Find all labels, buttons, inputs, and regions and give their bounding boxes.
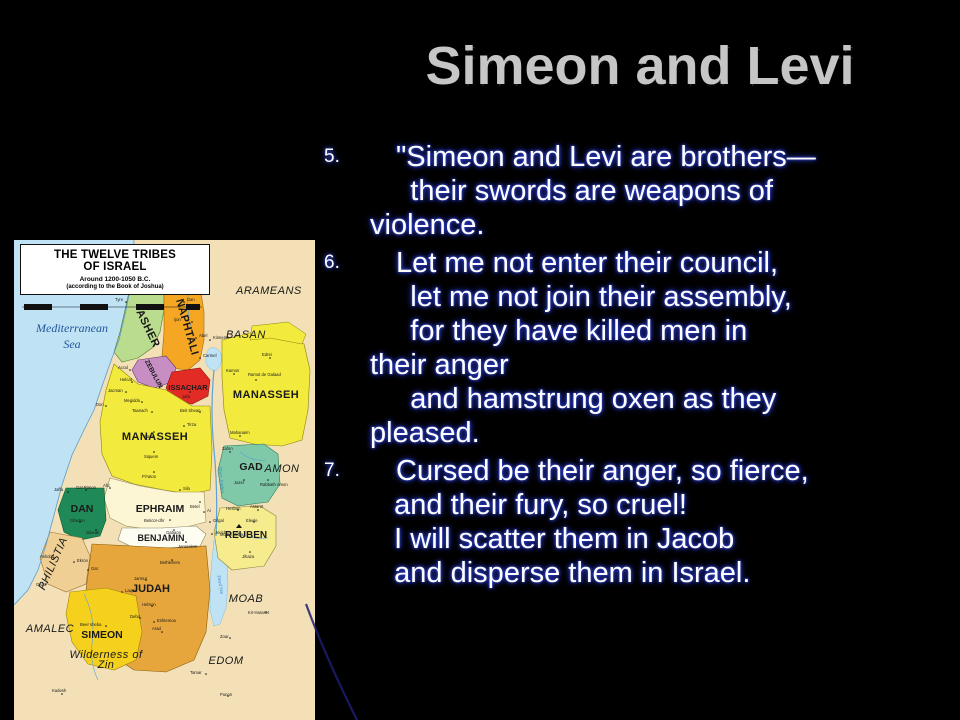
city-gabaon: Gabaon [166,530,182,535]
map-label-edom: EDOM [209,655,244,667]
city-piraton: Pi'raton [142,474,157,479]
city-jazer: Jazer [234,480,245,485]
map-label-issachar: ISSACHAR [168,383,208,392]
map-legend-line1: THE TWELVE TRIBES [24,249,206,261]
city-carmel: Carmel [203,353,217,358]
map-label-basan: BASAN [226,329,266,341]
city-jaffa: Jaffa [54,487,64,492]
city-mount-nebo: Mount Nebo [220,532,243,537]
verse-text: "Simeon and Levi are brothers— their swo… [318,140,956,242]
map-label-ephraim: EPHRAIM [136,503,185,515]
city-tirza: Tirza [187,422,197,427]
map-label-amon: AMON [264,463,300,475]
map-label-arameans: ARAMEANS [235,285,302,297]
verse-number: 6. [324,252,340,274]
verse-text: Cursed be their anger, so fierce, and th… [318,454,956,590]
map-legend-line3: Around 1200-1050 B.C. [24,276,206,283]
verse-number: 5. [324,146,340,168]
city-debir: Debir [130,614,141,619]
city-zafon: Zafon [222,446,233,451]
city-kir-haraset: Kir-Haraset [248,610,270,615]
city-jihaza: Jihaza [242,554,255,559]
city-gal-rimon: Gat Rimon [76,485,97,490]
city-astarot: Astarot [250,504,264,509]
city-taanach: Taanach [132,408,149,413]
city-ekron: Ekron [77,558,89,563]
city-ramot-de-galaad: Ramot de Galaad [248,372,281,377]
map-label-mediterranean-1: Mediterranean [35,321,108,335]
map-scale-bar [22,302,202,316]
city-beticor-abr: Beticor-dhr [144,518,165,523]
map-label-wilderness-of-zin-2: Zin [97,659,115,671]
city-beer-sheba: Beer sheba [80,622,102,627]
map-legend-line4: (according to the Book of Joshua) [24,284,206,290]
city-bethlehem: Bethlehem [160,560,181,565]
city-gibeah: Gibeah [86,530,100,535]
city-afic: Afic [103,483,110,488]
map-legend-line2: OF ISRAEL [24,261,206,273]
city-eshtemoa: Eshtemoa [157,618,177,623]
city-edrei: Edrei [262,352,272,357]
city-jafa: Jafa [182,394,191,399]
map-label-manasseh-east: MANASSEH [233,389,299,401]
map-label-judah: JUDAH [132,583,170,595]
city-kinneret: Kinneret [213,335,229,340]
sea-of-galilee [206,348,222,371]
tribe-gad [218,444,280,506]
map-legend-box: THE TWELVE TRIBES OF ISRAEL Around 1200-… [20,244,210,295]
city-gaza: Gaza [36,582,47,587]
city-siquem: Siquem [144,454,159,459]
city-kamon: Kamon [226,368,240,373]
city-beit-shean: Beit Shean [180,408,201,413]
city-jarmut: Jarmut [134,576,148,581]
city-helcat: Helcat [120,377,133,382]
city-samir: Samir [144,434,156,439]
verse-item: 5. "Simeon and Levi are brothers— their … [318,140,956,242]
verse-list: 5. "Simeon and Levi are brothers— their … [318,140,956,700]
city-laquis: Laquis [125,588,137,593]
city-punon: Punon [220,692,233,697]
city-rabbath-amon: Rabbath Amon [260,482,288,487]
twelve-tribes-map: Mediterranean Sea ARAMEANS BASAN ASHER N… [14,240,315,720]
map-label-gad: GAD [239,461,263,473]
city-jerusalem: Jerusalem [178,544,198,549]
city-gibeton: Gibeton [70,518,85,523]
city-mahanaim: Mahanaim [230,430,250,435]
verse-item: 7. Cursed be their anger, so fierce, and… [318,454,956,590]
city-ashdod: Ashdod [40,554,55,559]
city-hebron: Hebron [142,602,156,607]
city-megiddo: Megiddo [124,398,141,403]
city-betel: Betel [190,504,200,509]
city-kadesh: Kadesh [52,688,67,693]
map-label-dan: DAN [71,503,94,515]
map-label-moab: MOAB [229,593,263,605]
map-label-mediterranean-2: Sea [63,337,80,351]
verse-number: 7. [324,460,340,482]
map-label-manasseh-west: MANASSEH [122,431,188,443]
city-zoar: Zoar [220,634,229,639]
city-don: Don [96,402,104,407]
city-ijon: Ijon [174,317,181,322]
map-label-simeon: SIMEON [81,629,122,641]
presentation-slide: Simeon and Levi [0,0,960,720]
map-label-amalec: AMALEC [25,623,74,635]
verse-item: 6. Let me not enter their council, let m… [318,246,956,450]
city-eleale: Eleale [246,518,258,523]
city-hesbon: Hesbon [226,506,241,511]
city-tamar: Tamar [190,670,202,675]
page-title: Simeon and Levi [330,38,950,95]
verse-text: Let me not enter their council, let me n… [318,246,956,450]
city-accul: Accul [118,365,128,370]
city-ai: Ai [207,508,211,513]
city-gat: Gat [91,566,99,571]
city-silo: Silo [183,486,191,491]
city-jacman: Jacman [108,388,123,393]
city-arad: Arad [152,626,162,631]
city-gilgal: Gilgal [213,518,224,523]
city-abel: Abel [199,333,207,338]
